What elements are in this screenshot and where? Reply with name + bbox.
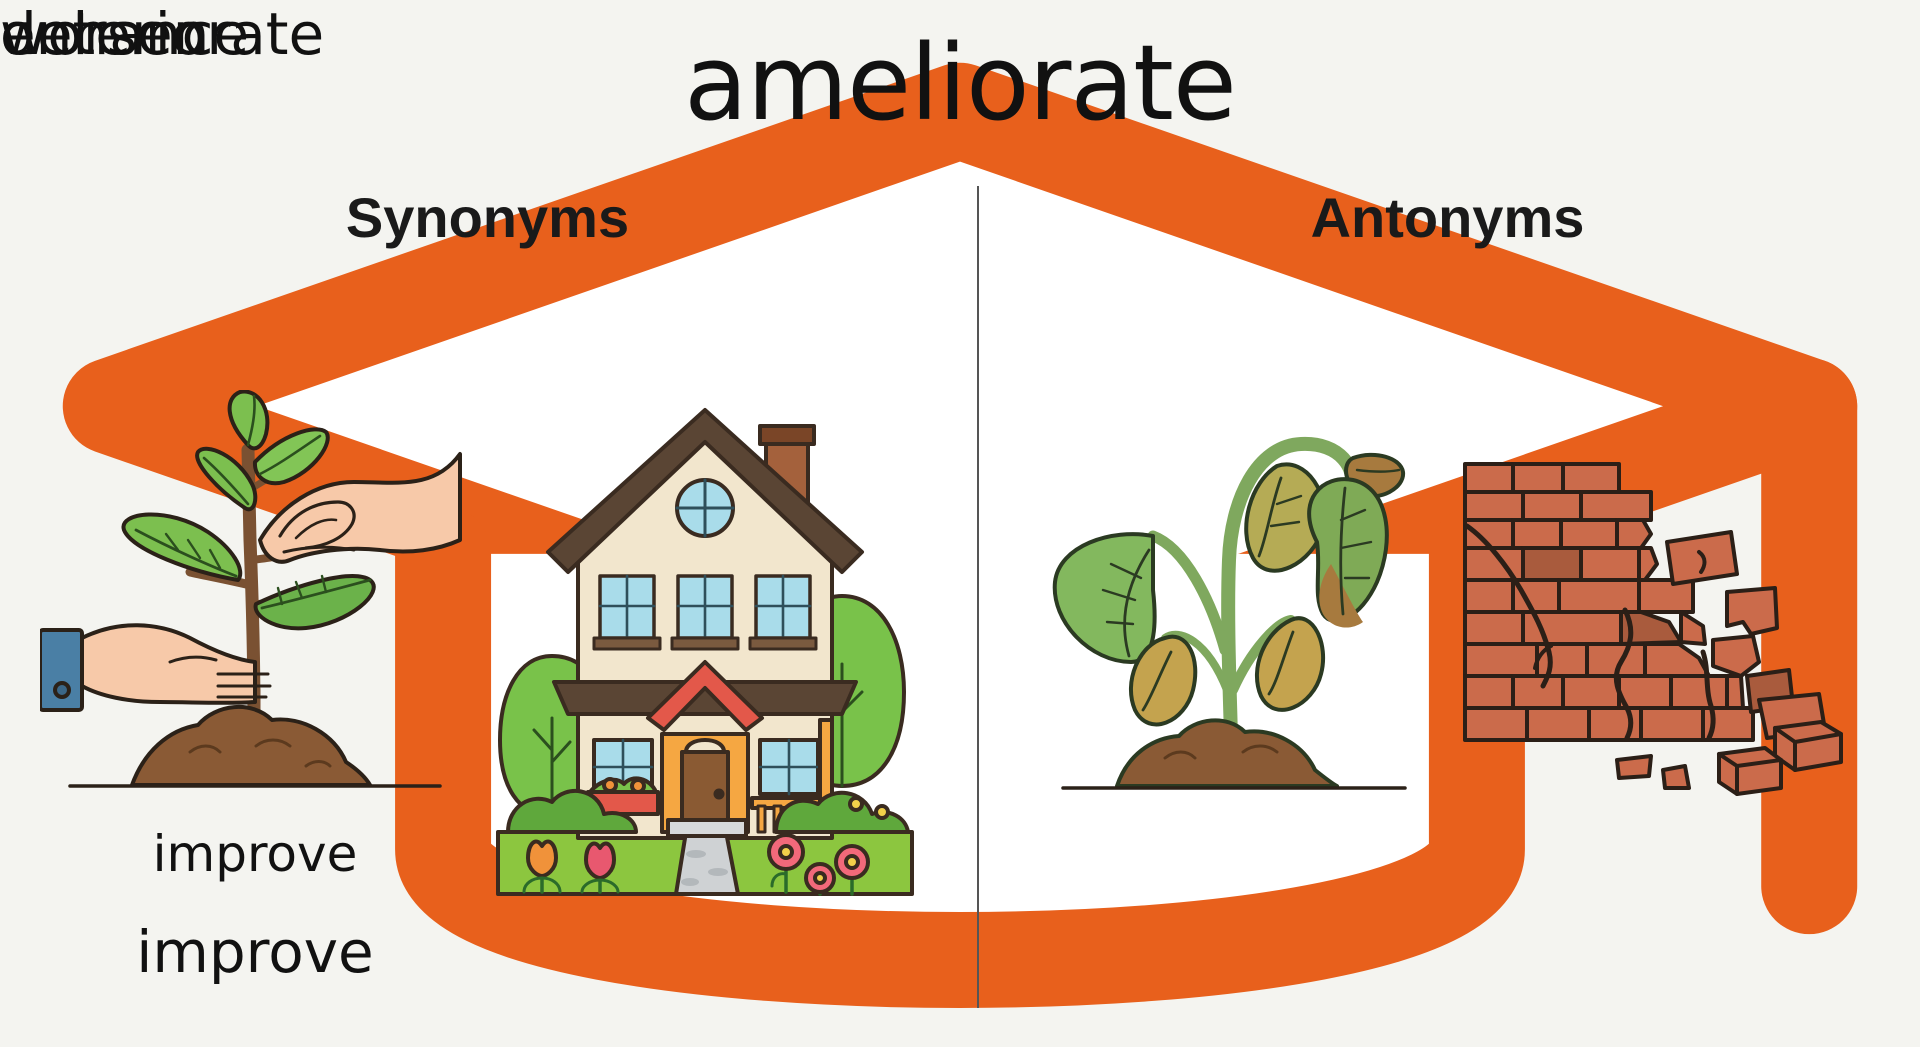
column-divider xyxy=(977,186,979,1008)
word-label-improve: improve xyxy=(40,918,470,986)
illustration-crumbling-wall xyxy=(1455,440,1885,810)
illustration-hands-planting-seedling xyxy=(40,390,470,810)
hands-planting-seedling-icon xyxy=(40,390,470,810)
infographic-page: ameliorate Synonyms Antonyms xyxy=(0,0,1920,1047)
house-with-garden-icon xyxy=(490,400,920,900)
illustration-house xyxy=(490,400,920,900)
word-label-improve-secondary: improve xyxy=(40,825,470,883)
synonyms-heading: Synonyms xyxy=(0,185,975,250)
word-label-deteriorate: deteriorate xyxy=(0,0,324,68)
antonyms-heading: Antonyms xyxy=(975,185,1920,250)
illustration-wilting-plant xyxy=(1045,400,1425,810)
crumbling-brick-wall-icon xyxy=(1455,440,1885,810)
wilting-plant-icon xyxy=(1045,400,1425,810)
